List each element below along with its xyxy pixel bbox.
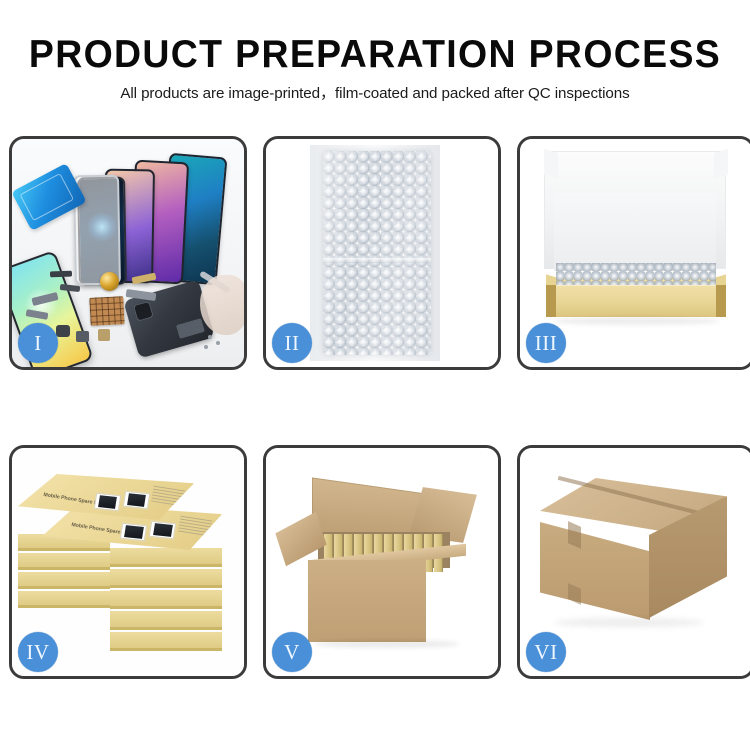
box-front-panel [546, 285, 726, 317]
box-phone-image-1 [94, 493, 121, 511]
step-badge-3: III [526, 323, 566, 363]
carton-side-panel [425, 542, 467, 622]
screw-icon [204, 345, 208, 349]
box-lid-left-flap [544, 149, 558, 180]
box-inner-wall [554, 193, 716, 271]
step-badge-4: IV [18, 632, 58, 672]
product-preparation-infographic: PRODUCT PREPARATION PROCESS All products… [0, 0, 750, 750]
box-spec-lines [151, 485, 185, 508]
page-title: PRODUCT PREPARATION PROCESS [15, 32, 735, 78]
box-spec-lines [178, 515, 213, 538]
carton-shadow [554, 618, 704, 627]
step-panel-3: III [517, 136, 750, 370]
chip-array-icon [89, 296, 124, 326]
copper-coil-icon [100, 272, 119, 291]
speaker-module-icon [76, 331, 89, 342]
wrap-sheen [323, 151, 431, 355]
step-badge-2: II [272, 323, 312, 363]
page-subtitle: All products are image-printed，film-coat… [0, 84, 750, 104]
box-shadow [552, 317, 720, 325]
step-panel-1: I [9, 136, 247, 370]
carton-shadow [314, 640, 460, 648]
carton-front-panel [308, 560, 426, 642]
box-front-right-corner [716, 285, 726, 317]
step-panel-5: V [263, 445, 501, 679]
step-panel-4: Mobile Phone Spare Parts Mobile Phone Sp… [9, 445, 247, 679]
carton-front-panel [540, 522, 650, 620]
antenna-strip-icon [50, 271, 72, 278]
box-phone-image-2 [122, 491, 149, 509]
box-phone-image-2 [149, 521, 177, 539]
step-badge-6: VI [526, 632, 566, 672]
box-lid-right-flap [714, 149, 728, 180]
box-phone-image-1 [120, 523, 148, 541]
step-panel-2: II [263, 136, 501, 370]
header: PRODUCT PREPARATION PROCESS All products… [0, 0, 750, 118]
sim-tray-icon [98, 329, 110, 341]
camera-module-icon [56, 325, 70, 337]
step-badge-1: I [18, 323, 58, 363]
process-steps-grid: I II [0, 132, 750, 688]
screw-icon [208, 335, 212, 339]
hand-icon [200, 275, 244, 335]
step-panel-6: VI [517, 445, 750, 679]
step-badge-5: V [272, 632, 312, 672]
box-front-left-corner [546, 285, 556, 317]
screw-icon [216, 341, 220, 345]
